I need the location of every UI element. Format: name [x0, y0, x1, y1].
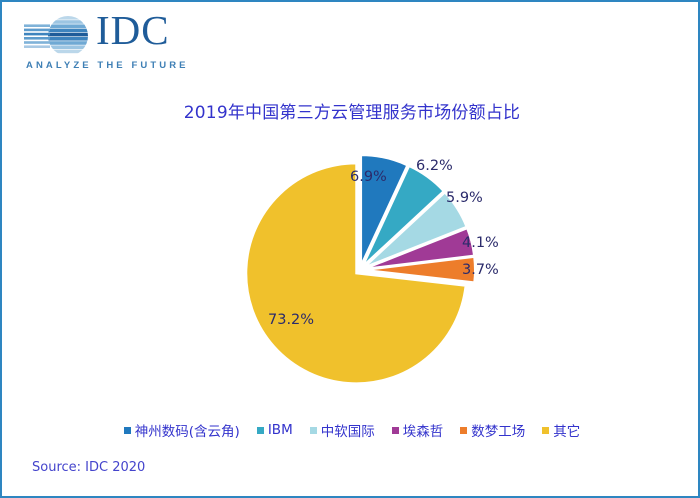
- idc-wordmark: IDC: [96, 10, 170, 51]
- idc-tagline: ANALYZE THE FUTURE: [26, 60, 189, 71]
- legend-swatch-icon: [460, 427, 467, 434]
- legend-label: 神州数码(含云角): [135, 420, 240, 440]
- idc-logo: IDC ANALYZE THE FUTURE: [18, 12, 198, 74]
- legend-label: 其它: [553, 420, 580, 440]
- pie-slice-label: 73.2%: [268, 312, 314, 328]
- legend-item[interactable]: 中软国际: [310, 420, 375, 440]
- pie-slice-label: 6.2%: [416, 158, 453, 174]
- legend-item[interactable]: 埃森哲: [392, 420, 444, 440]
- pie-slice-label: 4.1%: [462, 235, 499, 251]
- legend-item[interactable]: 神州数码(含云角): [124, 420, 240, 440]
- legend-swatch-icon: [124, 427, 131, 434]
- chart-title: 2019年中国第三方云管理服务市场份额占比: [2, 98, 700, 123]
- legend-item[interactable]: IBM: [257, 422, 293, 438]
- legend-item[interactable]: 数梦工场: [460, 420, 525, 440]
- legend-label: 埃森哲: [403, 420, 444, 440]
- pie-slice-label: 3.7%: [462, 262, 499, 278]
- legend-swatch-icon: [392, 427, 399, 434]
- pie-slices: [246, 155, 475, 383]
- idc-globe-logo-icon: [24, 14, 92, 58]
- legend-item[interactable]: 其它: [542, 420, 580, 440]
- legend-label: IBM: [268, 422, 293, 438]
- chart-legend: 神州数码(含云角)IBM中软国际埃森哲数梦工场其它: [2, 420, 700, 440]
- chart-page: IDC ANALYZE THE FUTURE 2019年中国第三方云管理服务市场…: [0, 0, 700, 498]
- pie-slice-label: 6.9%: [350, 169, 387, 185]
- source-note: Source: IDC 2020: [32, 460, 145, 475]
- legend-swatch-icon: [542, 427, 549, 434]
- pie-chart: 6.9%6.2%5.9%4.1%3.7%73.2%: [2, 132, 700, 412]
- legend-swatch-icon: [310, 427, 317, 434]
- legend-label: 中软国际: [321, 420, 375, 440]
- legend-label: 数梦工场: [471, 420, 525, 440]
- legend-swatch-icon: [257, 427, 264, 434]
- pie-slice-label: 5.9%: [446, 190, 483, 206]
